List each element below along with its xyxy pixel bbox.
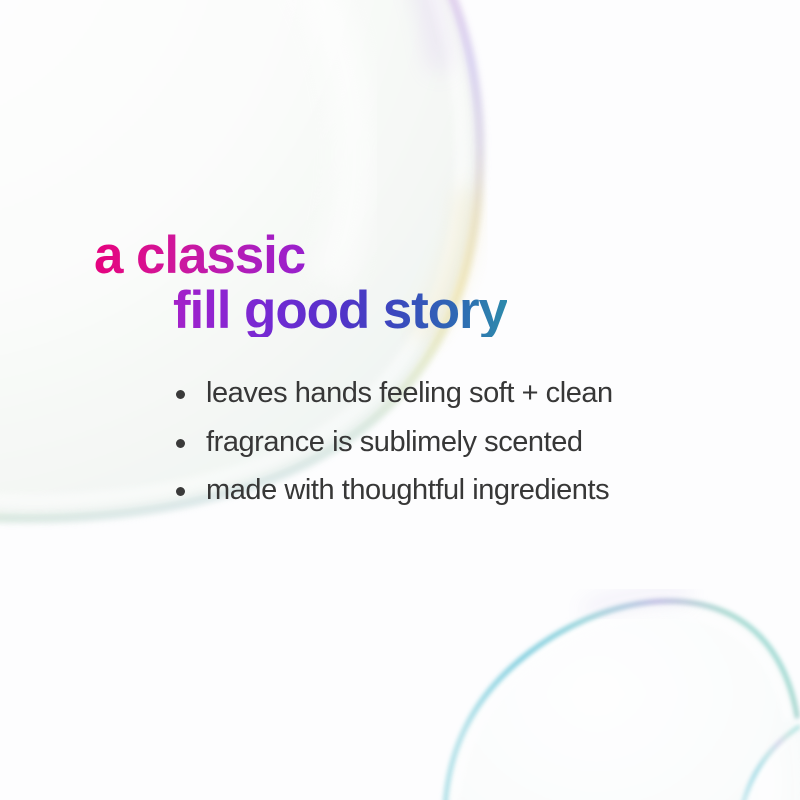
list-item: made with thoughtful ingredients xyxy=(170,472,760,510)
list-item-label: made with thoughtful ingredients xyxy=(206,472,760,510)
promo-graphic: a classic fill good story leaves hands f… xyxy=(0,0,800,800)
list-item-label: fragrance is sublimely scented xyxy=(206,424,760,462)
bullet-dot-icon xyxy=(176,487,185,496)
list-item: leaves hands feeling soft + clean xyxy=(170,375,760,413)
list-item: fragrance is sublimely scented xyxy=(170,424,760,462)
headline-line-2: fill good story xyxy=(173,284,507,337)
copy-block: a classic fill good story leaves hands f… xyxy=(0,0,800,800)
bullet-dot-icon xyxy=(176,439,185,448)
bullet-dot-icon xyxy=(176,390,185,399)
headline-line-1: a classic xyxy=(94,229,305,282)
benefits-list: leaves hands feeling soft + clean fragra… xyxy=(170,375,760,510)
list-item-label: leaves hands feeling soft + clean xyxy=(206,375,760,413)
